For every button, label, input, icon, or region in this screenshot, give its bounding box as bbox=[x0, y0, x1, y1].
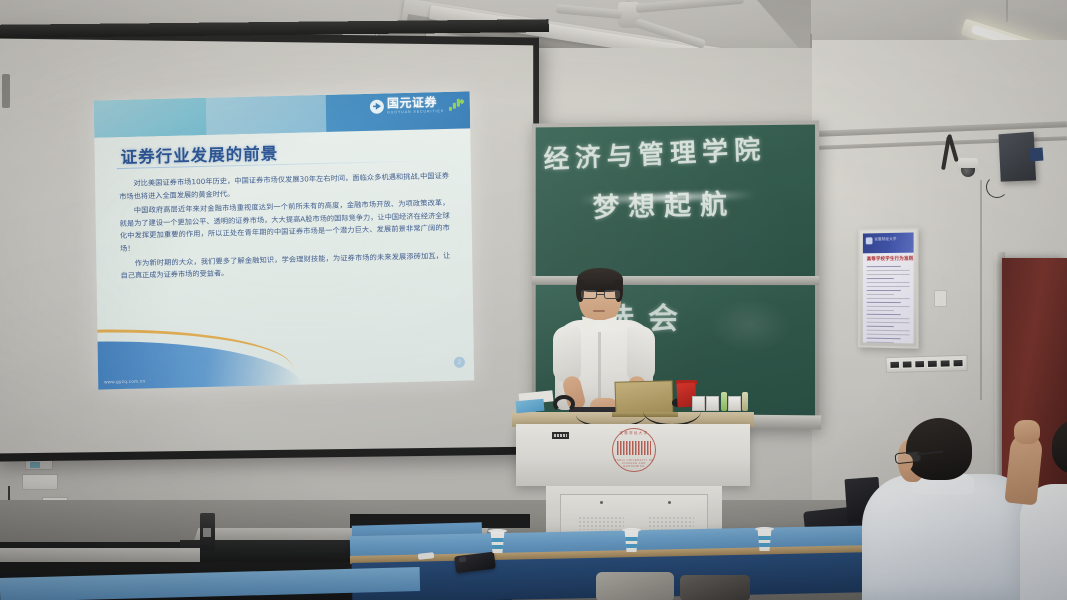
wall-device-accent bbox=[1030, 148, 1044, 162]
presentation-slide: 国元证券 GUOYUAN SECURITIES 证券行业发展的前景 对比美国证券… bbox=[94, 91, 474, 389]
attendee-right bbox=[1000, 418, 1067, 600]
bottle-icon bbox=[742, 392, 748, 411]
light-wire bbox=[1006, 0, 1008, 22]
presenter-sleeve bbox=[553, 326, 581, 382]
podium-control-label bbox=[552, 432, 569, 439]
presenter-sleeve bbox=[627, 326, 655, 382]
slide-body-text: 对比美国证券市场100年历史，中国证券市场仅发展30年左右时间，面临众多机遇和挑… bbox=[119, 170, 451, 285]
poster-body-lines bbox=[867, 266, 910, 344]
slide-footer-accent bbox=[94, 325, 293, 374]
light-switch[interactable] bbox=[902, 360, 913, 368]
university-crest-icon bbox=[866, 237, 873, 244]
slide-paragraph-3: 作为新时期的大众，我们要多了解金融知识，学会理财技能，为证券市场的未来发展添砖加… bbox=[120, 250, 450, 283]
small-box bbox=[728, 396, 741, 411]
slide-header-pane-left bbox=[94, 98, 207, 138]
podium-vent bbox=[578, 516, 624, 530]
slide-paragraph-2: 中国政府高层近年来对金融市场重视度达到一个前所未有的高度，金融市场开放、为项政策… bbox=[119, 197, 450, 255]
seal-emblem bbox=[617, 441, 651, 455]
presenter-mouth bbox=[593, 310, 605, 312]
wall-poster: 安徽财经大学 高等学校学生行为准则 bbox=[863, 232, 914, 343]
logo-text: 国元证券 GUOYUAN SECURITIES bbox=[387, 96, 444, 114]
light-switch[interactable] bbox=[914, 360, 925, 368]
wall-outlet-icon bbox=[934, 290, 947, 307]
wall-poster-frame: 安徽财经大学 高等学校学生行为准则 bbox=[858, 227, 918, 348]
attendee-hair bbox=[906, 418, 972, 480]
seal-text-top: 安徽财经大学 bbox=[614, 430, 654, 435]
slide-page-number: 2 bbox=[454, 357, 465, 368]
podium-vent bbox=[648, 516, 694, 530]
light-switch[interactable] bbox=[952, 359, 963, 367]
bag-icon bbox=[680, 575, 750, 600]
guoyuan-logo: 国元证券 GUOYUAN SECURITIES bbox=[370, 96, 464, 115]
logo-label-cn: 国元证券 bbox=[387, 96, 444, 109]
poster-title: 高等学校学生行为准则 bbox=[867, 256, 914, 263]
bag-icon bbox=[596, 572, 674, 600]
classroom-photo-scene: 国元证券 GUOYUAN SECURITIES 证券行业发展的前景 对比美国证券… bbox=[0, 0, 1067, 600]
chalk-smudge bbox=[710, 298, 791, 353]
attendee-hand bbox=[1014, 420, 1040, 444]
light-switch[interactable] bbox=[927, 360, 938, 368]
poster-header-band: 安徽财经大学 bbox=[863, 232, 914, 253]
blue-folder bbox=[516, 399, 545, 413]
play-circle-icon bbox=[370, 99, 384, 113]
bottle-icon bbox=[721, 392, 727, 411]
seal-text-bottom: ANHUI UNIVERSITY OF FINANCE AND ECONOMIC… bbox=[612, 459, 656, 468]
screen-side-tab bbox=[2, 74, 10, 108]
platform-edge bbox=[0, 548, 200, 562]
light-switch[interactable] bbox=[889, 361, 900, 369]
poster-header-text: 安徽财经大学 bbox=[874, 237, 896, 242]
light-switch-bank-icon[interactable] bbox=[886, 355, 968, 373]
wall-seam bbox=[980, 180, 982, 400]
growth-arrow-icon bbox=[449, 97, 464, 111]
panel-screw bbox=[668, 501, 671, 504]
slide-header-pane-mid bbox=[206, 95, 327, 135]
presenter-shirt-placket bbox=[598, 332, 601, 404]
light-switch[interactable] bbox=[940, 359, 951, 367]
small-box bbox=[706, 396, 719, 411]
small-box bbox=[692, 396, 705, 411]
device-cable bbox=[986, 176, 1008, 198]
phone-camera bbox=[459, 557, 467, 563]
glasses-icon bbox=[579, 290, 622, 300]
panel-screw bbox=[600, 501, 603, 504]
headphones-icon bbox=[553, 395, 575, 413]
chalk-text-line2: 梦想起航 bbox=[592, 182, 736, 225]
breaker-panel-icon bbox=[22, 474, 58, 490]
slide-footer-url: www.gyzq.com.cn bbox=[104, 378, 145, 384]
attendee-hair bbox=[1052, 418, 1067, 474]
trash-bin-label bbox=[203, 528, 211, 537]
